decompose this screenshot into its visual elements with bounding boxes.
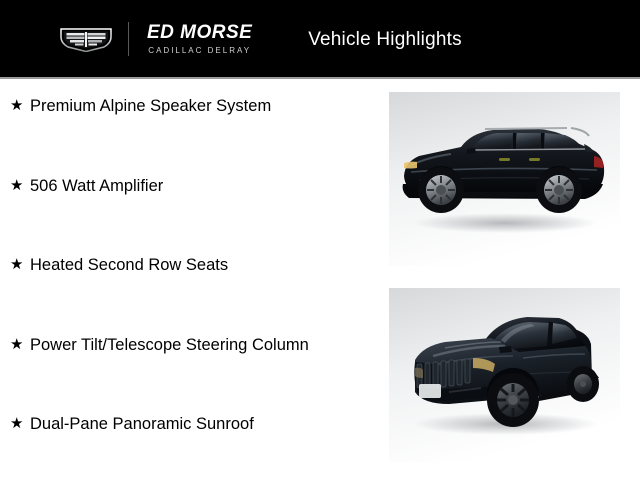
list-item-label: Power Tilt/Telescope Steering Column xyxy=(30,334,309,356)
list-item: ★ Power Tilt/Telescope Steering Column xyxy=(0,334,380,414)
list-item: ★ Heated Second Row Seats xyxy=(0,254,380,334)
vehicle-highlights-list: ★ Premium Alpine Speaker System ★ 506 Wa… xyxy=(0,95,380,493)
list-item: ★ Premium Alpine Speaker System xyxy=(0,95,380,175)
star-icon: ★ xyxy=(10,175,30,197)
star-icon: ★ xyxy=(10,254,30,276)
header-bar: ED MORSE CADILLAC DELRAY Vehicle Highlig… xyxy=(0,0,640,77)
vehicle-photo-side-profile[interactable] xyxy=(389,92,620,266)
page-title: Vehicle Highlights xyxy=(0,29,640,51)
list-item: ★ 506 Watt Amplifier xyxy=(0,175,380,255)
star-icon: ★ xyxy=(10,95,30,117)
list-item-label: Heated Second Row Seats xyxy=(30,254,228,276)
list-item-label: Premium Alpine Speaker System xyxy=(30,95,271,117)
star-icon: ★ xyxy=(10,413,30,435)
list-item-label: 506 Watt Amplifier xyxy=(30,175,163,197)
vehicle-highlights-slide: ED MORSE CADILLAC DELRAY Vehicle Highlig… xyxy=(0,0,640,480)
header-divider xyxy=(0,77,640,79)
star-icon: ★ xyxy=(10,334,30,356)
list-item: ★ Dual-Pane Panoramic Sunroof xyxy=(0,413,380,493)
vehicle-photo-front-three-quarter[interactable] xyxy=(389,288,620,462)
list-item-label: Dual-Pane Panoramic Sunroof xyxy=(30,413,254,435)
